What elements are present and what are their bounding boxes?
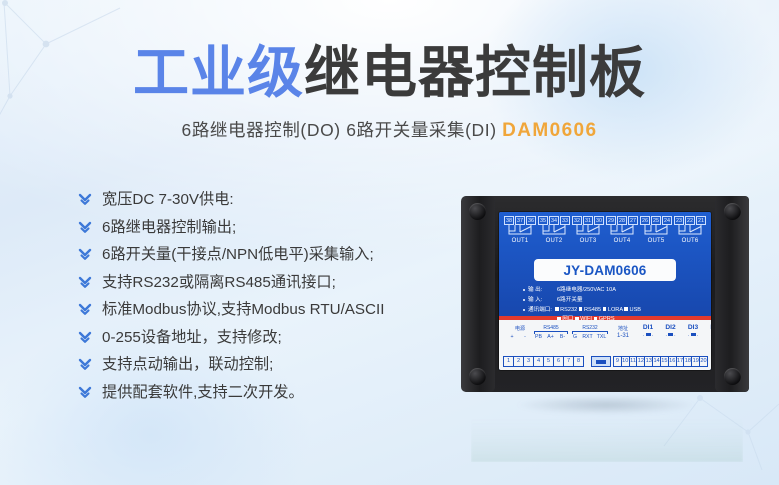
feature-item-label: 6路继电器控制输出; [102, 218, 236, 238]
spec-input-value: 6路开关量 [557, 296, 583, 304]
relay-terminal-numbers: 353433 [538, 216, 570, 225]
mounting-screw-hole [469, 203, 486, 220]
relay-terminal-number: 27 [628, 216, 638, 225]
relay-terminal-number: 33 [560, 216, 570, 225]
relay-terminal-number: 21 [696, 216, 706, 225]
rs232-group-label: RS232 [572, 325, 608, 331]
rs485-pin-b: B- [556, 334, 569, 340]
page-title: 工业级继电器控制板 [0, 44, 779, 103]
spec-port-key: 通讯端口: [528, 306, 552, 314]
double-chevron-down-icon [78, 273, 92, 293]
spec-output-key: 输 出: [528, 286, 554, 294]
page-subtitle: 6路继电器控制(DO) 6路开关量采集(DI) DAM0606 [0, 117, 779, 142]
relay-terminal-numbers: 292827 [606, 216, 638, 225]
spec-port-row: 通讯端口: RS232 RS485 LORA USB [523, 306, 705, 314]
checkbox-icon [594, 317, 598, 321]
relay-contact-symbol-icon [674, 225, 706, 238]
double-chevron-down-icon [78, 355, 92, 375]
feature-list: 宽压DC 7-30V供电: 6路继电器控制输出; 6路开关量(干接点/NPN低电… [78, 190, 478, 410]
address-dip-indicator [591, 356, 611, 367]
port-option: RS485 [579, 307, 601, 313]
relay-terminal-numbers: 262524 [640, 216, 672, 225]
terminal-number-box: 20 [699, 356, 708, 367]
relay-output-group: 232221 OUT6 [674, 216, 706, 244]
di-contact-symbol-icon: ·· [661, 333, 681, 339]
checkbox-icon [603, 307, 607, 311]
rs485-group-label: RS485 [534, 325, 568, 331]
double-chevron-down-icon [78, 245, 92, 265]
device-faceplate: 383736 OUT1353433 OUT2323130 [499, 212, 711, 370]
relay-terminal-number: 37 [515, 216, 525, 225]
relay-terminal-number: 29 [606, 216, 616, 225]
bottom-silkscreen: 电源 + - RS485 PB A+ B- RS232 G RXT TXL 地址… [499, 322, 711, 370]
feature-item: 6路开关量(干接点/NPN低电平)采集输入; [78, 245, 478, 265]
relay-terminal-number: 31 [583, 216, 593, 225]
feature-item: 0-255设备地址，支持修改; [78, 328, 478, 348]
port-option: LORA [603, 307, 623, 313]
di-channel-label: DI3 [683, 324, 703, 331]
double-chevron-down-icon [78, 190, 92, 210]
relay-terminal-numbers: 383736 [504, 216, 536, 225]
spec-port-options-row1: RS232 RS485 LORA USB [555, 306, 641, 314]
checkbox-icon [555, 307, 559, 311]
spec-input-row: 输 入: 6路开关量 [523, 296, 705, 304]
relay-contact-symbol-icon [572, 225, 604, 238]
bullet-dot-icon [523, 309, 525, 311]
bottom-silkscreen-labels: 电源 + - RS485 PB A+ B- RS232 G RXT TXL 地址… [503, 325, 707, 347]
double-chevron-down-icon [78, 218, 92, 238]
port-option: USB [624, 307, 641, 313]
page-title-rest: 继电器控制板 [304, 41, 646, 104]
product-device-image: 1 2 3 4 5 383736 OUT1353433 [451, 186, 761, 408]
address-label: 地址 [611, 325, 635, 332]
feature-item: 标准Modbus协议,支持Modbus RTU/ASCII [78, 300, 478, 320]
subtitle-text: 6路继电器控制(DO) 6路开关量采集(DI) [182, 120, 497, 140]
relay-output-label: OUT4 [606, 238, 638, 244]
feature-item-label: 支持点动输出，联动控制; [102, 355, 273, 375]
address-range: 1-31 [611, 333, 635, 339]
relay-terminal-number: 25 [651, 216, 661, 225]
relay-terminal-number: 38 [504, 216, 514, 225]
feature-item: 支持点动输出，联动控制; [78, 355, 478, 375]
relay-terminal-number: 23 [674, 216, 684, 225]
relay-output-groups: 383736 OUT1353433 OUT2323130 [504, 216, 706, 244]
di-channel-label: DI1 [638, 324, 658, 331]
relay-terminal-numbers: 232221 [674, 216, 706, 225]
double-chevron-down-icon [78, 300, 92, 320]
relay-output-group: 262524 OUT5 [640, 216, 672, 244]
double-chevron-down-icon [78, 383, 92, 403]
relay-output-group: 292827 OUT4 [606, 216, 638, 244]
bullet-dot-icon [523, 289, 525, 291]
checkbox-icon [624, 307, 628, 311]
right-terminal-numbers: 91011121314151617181920 [613, 356, 707, 367]
relay-terminal-number: 28 [617, 216, 627, 225]
relay-terminal-number: 30 [594, 216, 604, 225]
left-terminal-numbers: 12345678 [503, 356, 589, 367]
checkbox-icon [575, 317, 579, 321]
relay-output-label: OUT6 [674, 238, 706, 244]
rs232-pin-txl: TXL [594, 334, 609, 340]
product-model: DAM0606 [502, 120, 597, 141]
di-contact-symbol-icon: ·· [638, 333, 658, 339]
mounting-ear-right [715, 196, 749, 392]
di-contact-symbol-icon: ·· [706, 333, 712, 339]
spec-input-key: 输 入: [528, 296, 554, 304]
device-reflection [471, 400, 743, 462]
mounting-screw-hole [469, 368, 486, 385]
power-pin-minus: - [519, 334, 531, 340]
di-channel-label: DI2 [661, 324, 681, 331]
relay-terminal-numbers: 323130 [572, 216, 604, 225]
relay-output-label: OUT2 [538, 238, 570, 244]
feature-item-label: 提供配套软件,支持二次开发。 [102, 383, 304, 403]
model-plate-text: JY-DAM0606 [563, 263, 646, 278]
feature-item: 支持RS232或隔离RS485通讯接口; [78, 273, 478, 293]
spec-output-value: 6路继电器/250VAC 10A [557, 286, 616, 294]
relay-contact-symbol-icon [538, 225, 570, 238]
relay-terminal-number: 34 [549, 216, 559, 225]
di-channel-label: DI4 [706, 324, 712, 331]
model-plate: JY-DAM0606 [534, 259, 676, 281]
power-group-label: 电源 [509, 325, 531, 332]
relay-terminal-number: 35 [538, 216, 548, 225]
relay-output-label: OUT1 [504, 238, 536, 244]
double-chevron-down-icon [78, 328, 92, 348]
page-title-highlight: 工业级 [133, 41, 304, 104]
relay-output-group: 383736 OUT1 [504, 216, 536, 244]
relay-output-group: 323130 OUT3 [572, 216, 604, 244]
checkbox-icon [579, 307, 583, 311]
relay-terminal-number: 22 [685, 216, 695, 225]
power-pin-plus: + [506, 334, 518, 340]
terminal-number-box: 8 [573, 356, 584, 367]
checkbox-icon [557, 317, 561, 321]
relay-terminal-number: 24 [662, 216, 672, 225]
mounting-screw-hole [724, 368, 741, 385]
relay-output-group: 353433 OUT2 [538, 216, 570, 244]
mounting-ear-left [461, 196, 495, 392]
feature-item: 6路继电器控制输出; [78, 218, 478, 238]
relay-contact-symbol-icon [504, 225, 536, 238]
terminal-number-row: 12345678 91011121314151617181920 [503, 356, 707, 367]
relay-terminal-number: 36 [526, 216, 536, 225]
relay-contact-symbol-icon [606, 225, 638, 238]
bullet-dot-icon [523, 299, 525, 301]
relay-contact-symbol-icon [640, 225, 672, 238]
feature-item-label: 宽压DC 7-30V供电: [102, 190, 234, 210]
relay-output-label: OUT3 [572, 238, 604, 244]
spec-output-row: 输 出: 6路继电器/250VAC 10A [523, 286, 705, 294]
relay-terminal-number: 26 [640, 216, 650, 225]
rs232-pin-rxt: RXT [580, 334, 595, 340]
feature-item-label: 支持RS232或隔离RS485通讯接口; [102, 273, 336, 293]
feature-item-label: 标准Modbus协议,支持Modbus RTU/ASCII [102, 300, 384, 320]
di-contact-symbol-icon: ·· [683, 333, 703, 339]
feature-item-label: 0-255设备地址，支持修改; [102, 328, 282, 348]
header-titles: 工业级继电器控制板 6路继电器控制(DO) 6路开关量采集(DI) DAM060… [0, 44, 779, 142]
mounting-screw-hole [724, 203, 741, 220]
feature-item: 宽压DC 7-30V供电: [78, 190, 478, 210]
feature-item-label: 6路开关量(干接点/NPN低电平)采集输入; [102, 245, 374, 265]
device-spec-list: 输 出: 6路继电器/250VAC 10A 输 入: 6路开关量 通讯端口: R… [523, 286, 705, 324]
feature-item: 提供配套软件,支持二次开发。 [78, 383, 478, 403]
relay-terminal-number: 32 [572, 216, 582, 225]
port-option: RS232 [555, 307, 577, 313]
relay-output-label: OUT5 [640, 238, 672, 244]
